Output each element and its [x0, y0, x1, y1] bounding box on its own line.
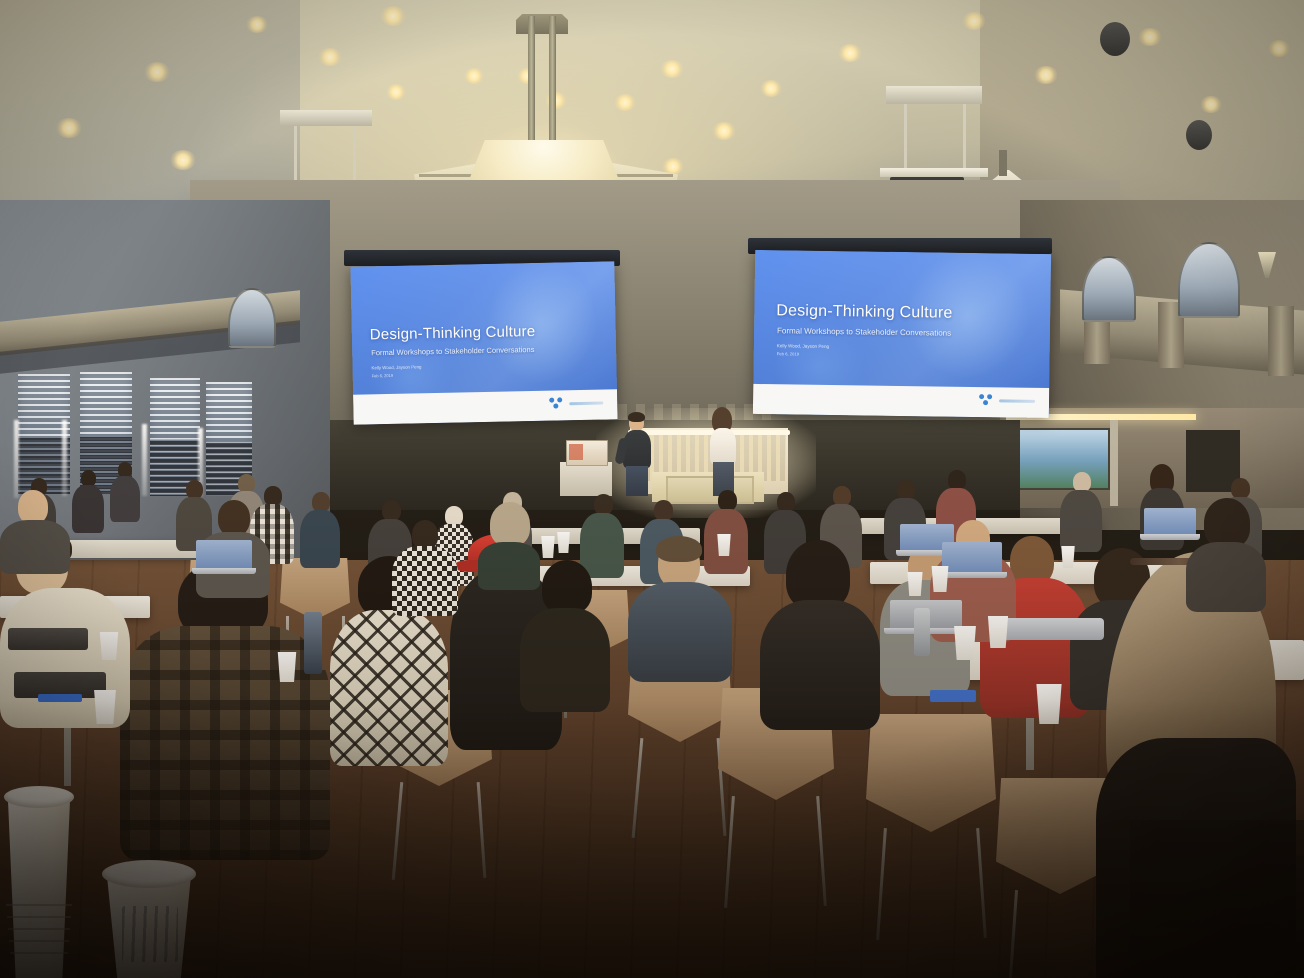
ceiling-speaker: [1186, 120, 1212, 150]
cup-stack-ring: [8, 928, 70, 930]
torso: [760, 600, 880, 730]
head: [312, 492, 330, 512]
head: [1073, 472, 1091, 492]
head: [718, 490, 737, 511]
stage-poster-accent: [569, 444, 583, 460]
cup-stack-ring: [6, 904, 72, 906]
right-projection-screen: Design-Thinking Culture Formal Workshops…: [753, 250, 1051, 418]
head: [218, 500, 250, 536]
downlight: [318, 48, 342, 66]
blue-card: [38, 694, 82, 702]
chair-leg: [876, 828, 887, 940]
hair: [542, 560, 592, 614]
audience-member-plaid-foreground: [120, 560, 330, 860]
chair: [866, 714, 996, 940]
laptop: [196, 540, 252, 574]
audience-member: [520, 560, 610, 710]
audience-member: [0, 490, 70, 570]
projector-scissor-lift: [294, 126, 356, 188]
cup-rim: [102, 860, 196, 888]
downlight: [1268, 40, 1290, 57]
window-left-3: [150, 378, 200, 496]
logo-wordmark: [999, 399, 1035, 403]
tablet-body: [8, 628, 88, 650]
head: [382, 500, 401, 521]
paper-cup-stack-front: [96, 860, 202, 978]
downlight: [464, 68, 484, 84]
water-bottle: [914, 608, 930, 656]
conference-hall-photo: Design-Thinking Culture Formal Workshops…: [0, 0, 1304, 978]
torso: [392, 546, 458, 616]
head: [1231, 478, 1250, 499]
cup-stack-ring: [7, 916, 71, 918]
logo-dot: [549, 398, 554, 403]
slide-date: Feb 6, 2019: [372, 373, 393, 378]
head: [897, 480, 915, 500]
projector-shelf: [880, 168, 988, 177]
torso: [520, 608, 610, 712]
cup-stack-ring: [9, 940, 69, 942]
chair-back: [866, 714, 996, 832]
chair-leg: [392, 782, 404, 880]
hair: [1204, 498, 1250, 548]
downlight: [838, 44, 862, 62]
downlight: [660, 60, 684, 78]
downlight: [760, 80, 782, 97]
logo-dot: [553, 403, 558, 408]
three-dot-logo: [549, 397, 565, 410]
head: [18, 490, 48, 524]
downlight: [56, 118, 82, 138]
hair: [656, 536, 702, 562]
downlight: [962, 12, 986, 30]
downlight: [712, 122, 736, 140]
laptop-closed: [1000, 618, 1104, 640]
torso: [628, 582, 732, 682]
laptop: [1000, 618, 1104, 644]
cup-printed-text: [122, 906, 178, 962]
plaid-shirt: [120, 626, 330, 860]
ceiling-vent-stem: [999, 150, 1007, 176]
cup-stack-ring: [10, 952, 68, 954]
torso: [110, 476, 140, 522]
laptop-screen: [196, 540, 252, 568]
downlight: [1138, 28, 1162, 46]
chair-leg: [816, 796, 827, 906]
three-dot-logo: [979, 394, 995, 407]
patterned-jacket: [330, 610, 448, 766]
presenter-right: [706, 410, 740, 496]
slide-date: Feb 6, 2019: [777, 351, 799, 356]
audience-member: [72, 470, 104, 532]
downlight: [170, 150, 196, 170]
blue-card: [930, 690, 976, 702]
alcove-doorframe: [1110, 420, 1118, 506]
head: [654, 500, 673, 521]
presenter-hair: [628, 412, 645, 422]
slide-footer: [353, 389, 618, 425]
chair-leg: [976, 828, 987, 938]
head: [777, 492, 795, 512]
downlight: [380, 6, 406, 26]
cup-stack-body: [0, 796, 78, 978]
slide-authors: Kelly Wood, Jayson Peng: [371, 364, 421, 370]
laptop: [1144, 508, 1196, 540]
slide-authors: Kelly Wood, Jayson Peng: [777, 343, 829, 349]
chandelier-canopy: [516, 14, 568, 34]
projector-ceiling-plate: [886, 86, 982, 104]
balcony-pillar: [1268, 306, 1294, 376]
stage-side-table: [560, 462, 612, 496]
audience-member: [1186, 498, 1266, 608]
logo-dot: [987, 394, 992, 399]
projector-scissor-lift: [904, 104, 966, 170]
water-bottle: [304, 612, 322, 674]
logo-dot: [983, 400, 988, 405]
downlight: [144, 62, 170, 82]
downlight: [246, 16, 268, 33]
presenter-torso: [623, 430, 651, 468]
window-light-streak: [142, 424, 147, 496]
logo-dot: [979, 394, 984, 399]
chair-leg: [724, 796, 735, 908]
tablet: [8, 628, 88, 654]
head: [833, 486, 851, 506]
slide-title: Design-Thinking Culture: [370, 323, 536, 343]
torso: [0, 520, 70, 574]
hair: [490, 502, 530, 546]
presenter-left: [620, 414, 654, 496]
audience-member: [110, 462, 140, 522]
downlight: [386, 84, 406, 100]
downlight: [1200, 96, 1222, 113]
torso: [1186, 542, 1266, 612]
laptop: [942, 542, 1002, 578]
laptop-base: [192, 568, 256, 574]
head: [948, 470, 966, 490]
chair-leg: [477, 782, 487, 878]
window-light-streak: [14, 420, 19, 498]
torso: [72, 485, 104, 533]
downlight: [614, 94, 636, 111]
presenter-torso: [710, 428, 736, 464]
left-projection-screen: Design-Thinking Culture Formal Workshops…: [350, 261, 617, 424]
projector-ceiling-plate: [280, 110, 372, 126]
ceiling-speaker: [1100, 22, 1130, 56]
audience-member: [760, 540, 880, 730]
foreground-dark-mass: [1130, 820, 1304, 978]
head: [594, 494, 613, 515]
window-light-streak: [62, 420, 67, 496]
laptop-screen: [1144, 508, 1196, 534]
laptop-base: [1140, 534, 1200, 540]
slide-title: Design-Thinking Culture: [776, 302, 952, 322]
laptop-screen: [942, 542, 1002, 572]
audience-member: [392, 520, 458, 616]
chair-leg: [632, 738, 644, 838]
paper-cup-stack-tall: [0, 786, 78, 978]
audience-member: [628, 540, 732, 680]
logo-dot: [557, 397, 562, 402]
cup-rim: [4, 786, 74, 808]
downlight: [1034, 66, 1058, 84]
presenter-legs: [626, 466, 648, 496]
chair-leg: [1009, 890, 1018, 978]
